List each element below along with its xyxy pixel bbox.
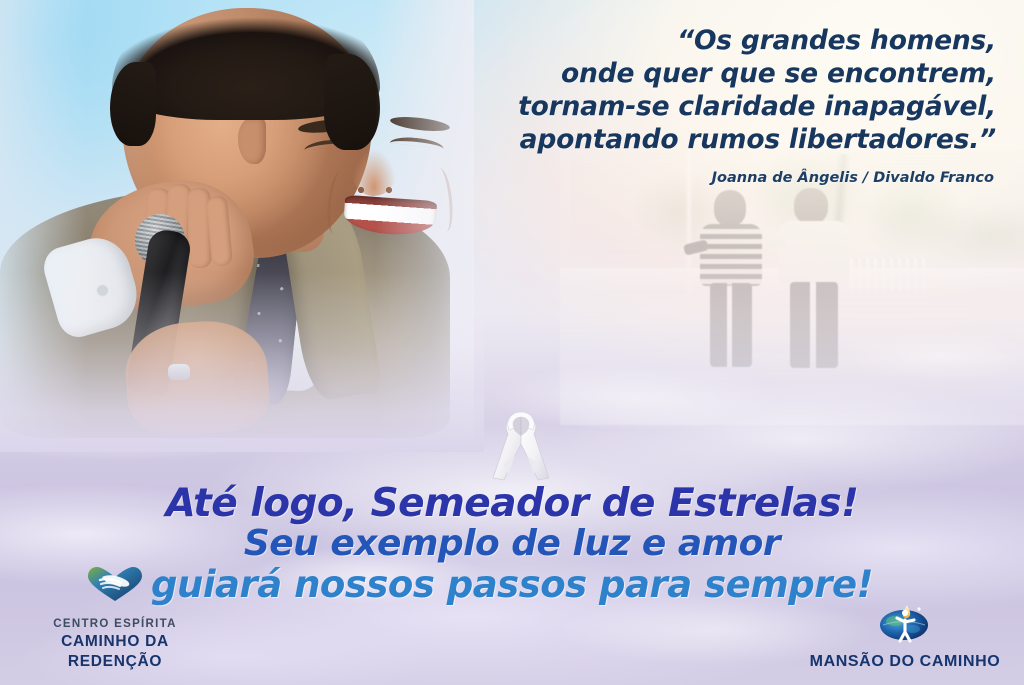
- portrait-fade-bottom: [0, 272, 484, 452]
- background-scene-two-men-walking: [560, 150, 1024, 425]
- portrait-divaldo-franco: [0, 0, 464, 442]
- logo-centro-espirita-caminho-da-redencao[interactable]: CENTRO ESPÍRITA CAMINHO DA REDENÇÃO: [16, 564, 214, 671]
- portrait-ear: [238, 118, 266, 164]
- portrait-hair-side-left: [110, 62, 156, 146]
- memorial-poster: “Os grandes homens, onde quer que se enc…: [0, 0, 1024, 685]
- heart-hands-icon: [16, 564, 214, 608]
- headline-line-2: Seu exemplo de luz e amor: [0, 524, 1024, 564]
- white-mourning-ribbon-icon: [484, 406, 558, 488]
- scene-haze-overlay: [560, 150, 1024, 425]
- quote-line-2: onde quer que se encontrem,: [456, 57, 996, 90]
- logo-mansao-do-caminho[interactable]: MANSÃO DO CAMINHO: [800, 599, 1010, 671]
- quote-line-4: apontando rumos libertadores.”: [456, 123, 996, 156]
- quote-line-1: “Os grandes homens,: [456, 24, 996, 57]
- globe-figure-flame-icon: [800, 599, 1010, 647]
- logo-left-line-1: CENTRO ESPÍRITA: [53, 618, 176, 630]
- quote-attribution: Joanna de Ângelis / Divaldo Franco: [454, 170, 994, 186]
- quote-block: “Os grandes homens, onde quer que se enc…: [456, 24, 996, 156]
- quote-line-3: tornam-se claridade inapagável,: [456, 90, 996, 123]
- logo-right-line-1: MANSÃO DO CAMINHO: [810, 653, 1001, 670]
- logo-left-line-2: CAMINHO DA REDENÇÃO: [61, 633, 169, 670]
- headline-line-1: Até logo, Semeador de Estrelas!: [0, 484, 1024, 524]
